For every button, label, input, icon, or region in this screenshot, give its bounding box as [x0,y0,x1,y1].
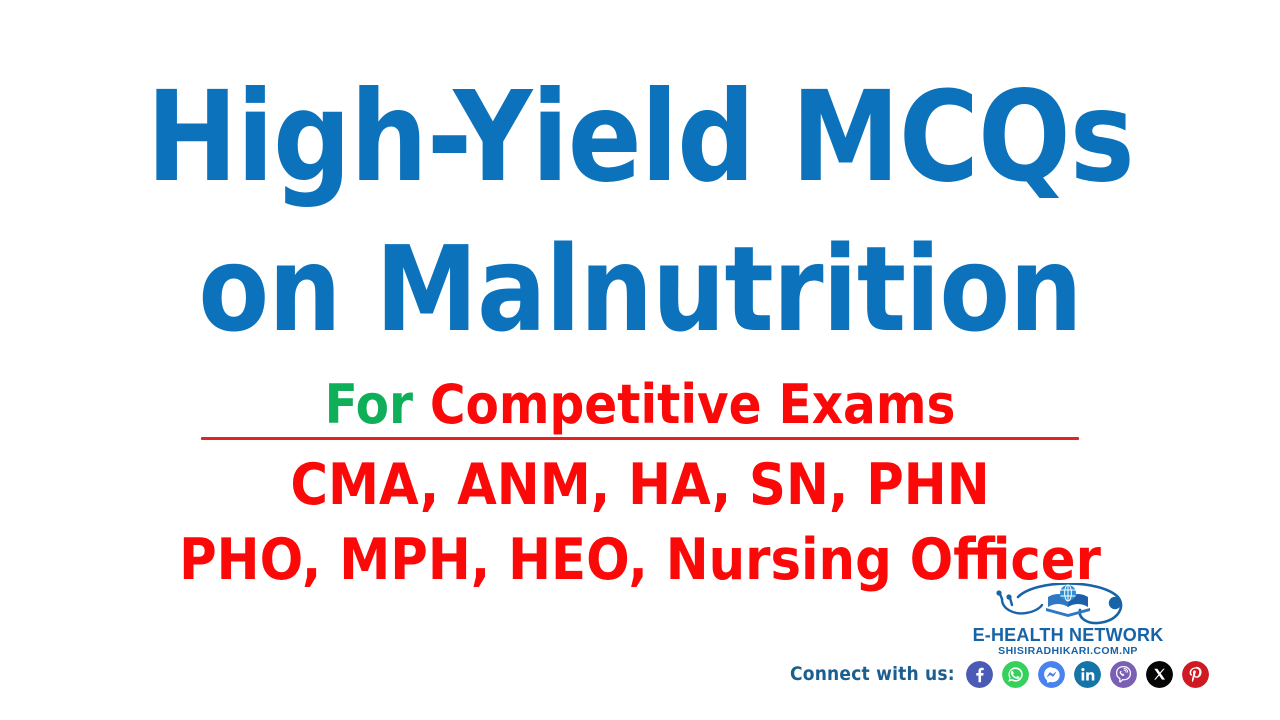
thumbnail-slide: High-Yield MCQs on Malnutrition For Comp… [0,0,1280,720]
brand-name: E-HEALTH NETWORK [958,626,1178,645]
facebook-icon[interactable] [966,661,993,688]
connect-label: Connect with us: [790,663,955,685]
pinterest-icon[interactable] [1182,661,1209,688]
messenger-icon[interactable] [1038,661,1065,688]
social-connect-bar: Connect with us: [790,658,1209,690]
brand-website: SHISIRADHIKARI.COM.NP [958,645,1178,657]
stethoscope-book-globe-emblem [958,583,1178,627]
viber-icon[interactable] [1110,661,1137,688]
page-title: High-Yield MCQs on Malnutrition [0,62,1280,364]
brand-logo: E-HEALTH NETWORK SHISIRADHIKARI.COM.NP [958,583,1178,655]
divider-rule [201,437,1079,440]
subtitle-prefix: For [325,373,413,436]
exam-list-line-1: CMA, ANM, HA, SN, PHN [0,452,1280,518]
x-twitter-icon[interactable] [1146,661,1173,688]
linkedin-icon[interactable] [1074,661,1101,688]
title-line-2: on Malnutrition [19,214,1261,364]
whatsapp-icon[interactable] [1002,661,1029,688]
subtitle-rest: Competitive Exams [430,373,956,436]
title-line-1: High-Yield MCQs [19,62,1261,214]
subtitle: For Competitive Exams [0,374,1280,436]
